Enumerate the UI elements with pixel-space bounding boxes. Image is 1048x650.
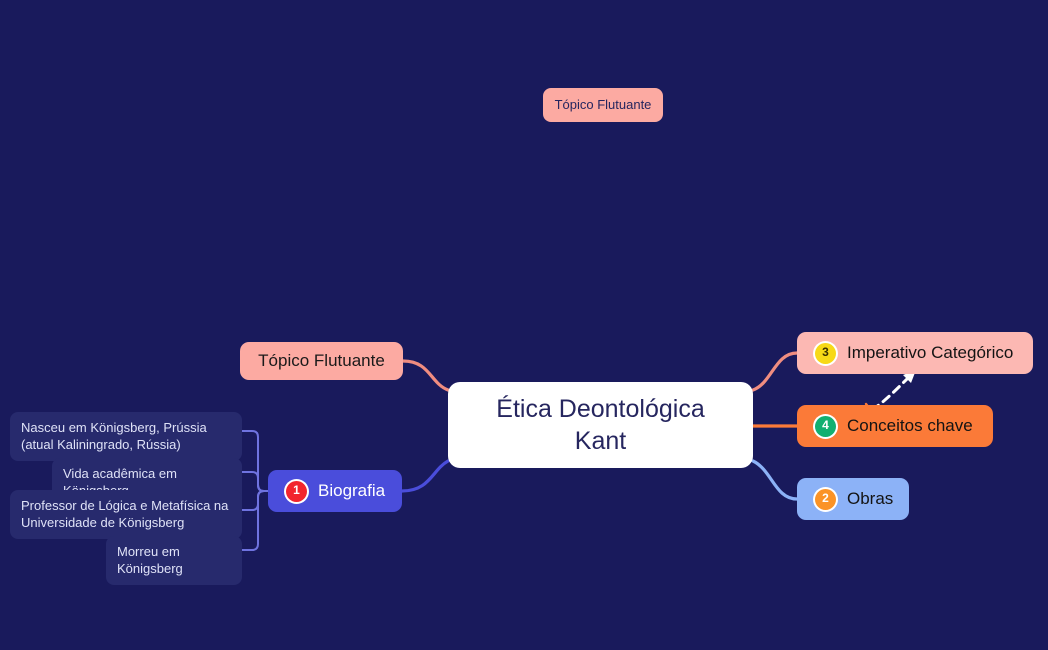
branch-label-imperativo-categorico: Imperativo Categórico: [847, 342, 1013, 364]
mindmap-canvas[interactable]: Tópico Flutuante Tópico Flutuante Ética …: [0, 0, 1048, 650]
sub-node-biografia-2[interactable]: Professor de Lógica e Metafísica na Univ…: [10, 490, 242, 539]
branch-badge-2: 2: [815, 489, 836, 510]
branch-label-conceitos-chave: Conceitos chave: [847, 415, 973, 437]
branch-node-imperativo-categorico[interactable]: 3 Imperativo Categórico: [797, 332, 1033, 374]
central-node-label: Ética Deontológica Kant: [496, 393, 704, 457]
sub-node-biografia-3[interactable]: Morreu em Königsberg: [106, 536, 242, 585]
edge-sub0-biografia: [242, 431, 268, 491]
floating-topic-node[interactable]: Tópico Flutuante: [543, 88, 663, 122]
branch-badge-1: 1: [286, 481, 307, 502]
branch-node-obras[interactable]: 2 Obras: [797, 478, 909, 520]
central-node[interactable]: Ética Deontológica Kant: [448, 382, 753, 468]
edge-central-obras: [753, 461, 797, 499]
sub-node-label: Morreu em Königsberg: [117, 543, 231, 578]
edge-sub3-biografia: [242, 491, 268, 550]
sub-node-label: Nasceu em Königsberg, Prússia (atual Kal…: [21, 419, 231, 454]
edge-sub1-biografia: [242, 472, 268, 491]
left-topic-label: Tópico Flutuante: [258, 350, 385, 372]
edge-biografia-central: [402, 461, 448, 491]
edge-sub2-biografia: [242, 491, 268, 510]
branch-label-biografia: Biografia: [318, 480, 385, 502]
edge-topico-central: [403, 361, 448, 390]
branch-badge-4: 4: [815, 416, 836, 437]
sub-node-label: Professor de Lógica e Metafísica na Univ…: [21, 497, 231, 532]
branch-label-obras: Obras: [847, 488, 893, 510]
branch-badge-3: 3: [815, 343, 836, 364]
branch-node-biografia[interactable]: 1 Biografia: [268, 470, 402, 512]
left-topic-node[interactable]: Tópico Flutuante: [240, 342, 403, 380]
branch-node-conceitos-chave[interactable]: 4 Conceitos chave: [797, 405, 993, 447]
edge-central-imperativo: [753, 353, 797, 390]
sub-node-biografia-0[interactable]: Nasceu em Königsberg, Prússia (atual Kal…: [10, 412, 242, 461]
floating-topic-label: Tópico Flutuante: [555, 97, 652, 114]
